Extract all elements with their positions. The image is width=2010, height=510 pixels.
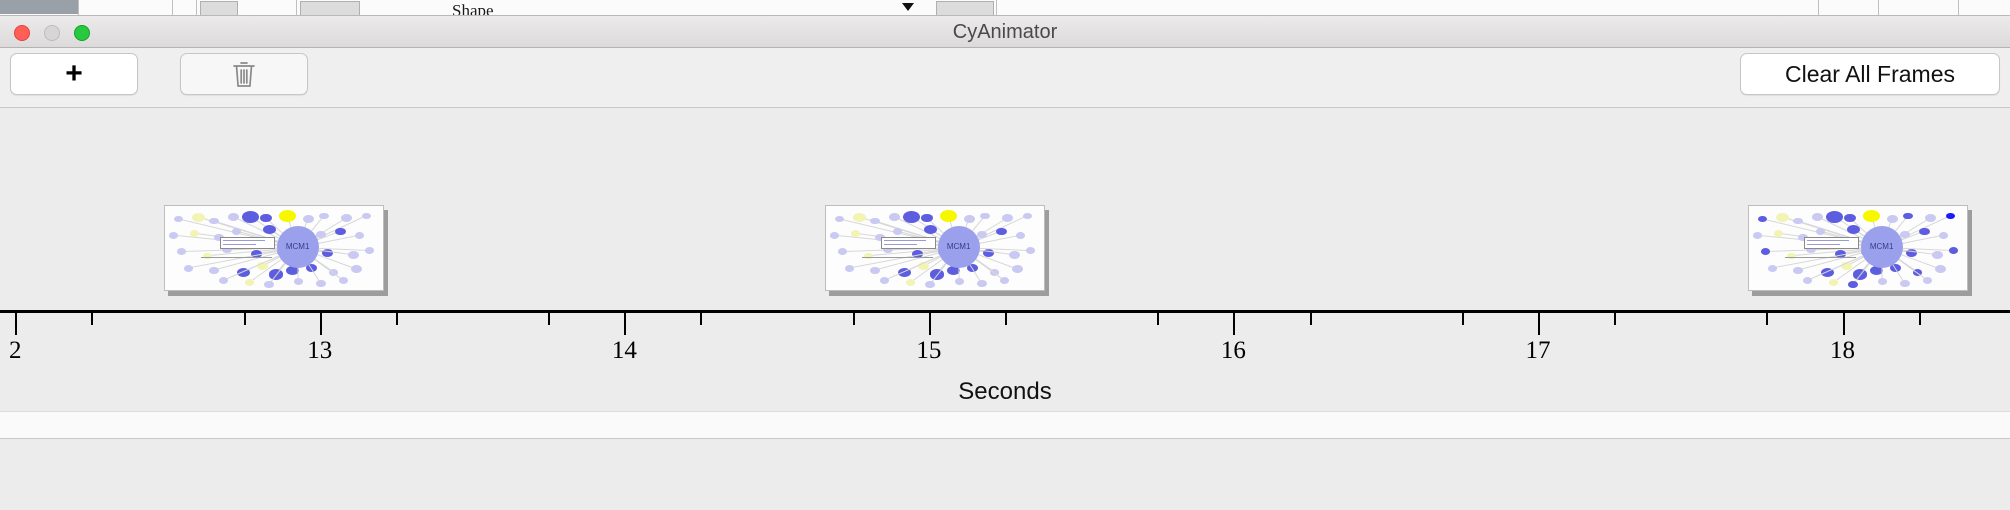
network-node (1863, 210, 1880, 222)
network-node (889, 213, 900, 221)
network-node (228, 213, 239, 221)
bg-field (300, 1, 360, 16)
network-node (1923, 277, 1932, 284)
axis-tick-minor (1919, 313, 1921, 325)
network-thumbnail-image: MCM1 (164, 205, 384, 291)
bg-field (200, 1, 238, 16)
axis-tick-minor (853, 313, 855, 325)
network-node (893, 228, 902, 235)
axis-tick-major (1538, 313, 1540, 335)
network-node (921, 214, 932, 222)
axis-tick-minor (548, 313, 550, 325)
network-node (1829, 279, 1838, 286)
network-node (955, 278, 964, 285)
network-hub-node: MCM1 (277, 226, 319, 268)
network-node (203, 253, 212, 260)
network-node (1903, 213, 1912, 220)
network-node (1023, 213, 1032, 220)
callout-text-line (884, 240, 926, 241)
delete-frame-button[interactable] (180, 53, 308, 95)
network-node (1753, 232, 1762, 239)
callout-text-line (1807, 240, 1849, 241)
network-node (940, 210, 957, 222)
network-node (184, 265, 193, 272)
axis-tick-minor (1310, 313, 1312, 325)
network-node (209, 267, 218, 274)
network-node (880, 277, 889, 284)
frame-thumbnail-2[interactable]: MCM1 (825, 205, 1045, 291)
network-node (964, 215, 975, 223)
network-node (870, 267, 879, 274)
network-node (260, 214, 271, 222)
axis-tick-label: 13 (307, 337, 332, 365)
background-app-label: Shape (452, 1, 494, 16)
timeline-panel[interactable]: MCM1MCM1MCM1 (0, 109, 2010, 411)
network-node (190, 230, 199, 237)
axis-tick-label: 14 (612, 337, 637, 365)
axis-tick-minor (244, 313, 246, 325)
network-hub-node: MCM1 (1861, 226, 1903, 268)
bg-divider (1958, 0, 1959, 16)
bg-field (936, 1, 994, 16)
network-node (279, 210, 296, 222)
axis-tick-minor (1462, 313, 1464, 325)
network-node (925, 281, 934, 288)
network-callout (881, 237, 936, 249)
axis-tick-minor (396, 313, 398, 325)
axis-tick-minor (1614, 313, 1616, 325)
network-caption-line (201, 257, 272, 258)
network-node (1000, 277, 1009, 284)
bg-divider (172, 0, 173, 16)
background-dark-block (0, 0, 78, 14)
bg-divider (1878, 0, 1879, 16)
network-node (1826, 211, 1843, 223)
network-node (348, 251, 359, 259)
callout-text-line (1807, 244, 1839, 245)
network-node (1844, 214, 1855, 222)
network-node (1026, 247, 1035, 254)
frame-thumbnail-3[interactable]: MCM1 (1748, 205, 1968, 291)
network-node (1787, 253, 1796, 260)
axis-tick-major (929, 313, 931, 335)
network-callout (1804, 237, 1859, 249)
timeline-scrollbar-track[interactable] (0, 411, 2010, 439)
network-callout (220, 237, 275, 249)
playback-control-bar: ↻ Animation Speed: (0, 440, 2010, 510)
network-node (1812, 213, 1823, 221)
network-node (1768, 265, 1777, 272)
network-node (845, 265, 854, 272)
network-node (362, 213, 371, 220)
axis-tick-major (624, 313, 626, 335)
network-node (851, 230, 860, 237)
axis-tick-minor (1157, 313, 1159, 325)
clear-all-frames-button[interactable]: Clear All Frames (1740, 53, 2000, 95)
network-node (1016, 232, 1025, 239)
axis-tick-major (1843, 313, 1845, 335)
network-node (1900, 280, 1909, 287)
network-node (864, 253, 873, 260)
axis-tick-label: 16 (1221, 337, 1246, 365)
network-node (1848, 281, 1857, 288)
network-node (242, 211, 259, 223)
network-node (351, 265, 362, 273)
axis-tick-major (1233, 313, 1235, 335)
callout-text-line (223, 240, 265, 241)
network-node (1919, 228, 1930, 236)
bg-divider (196, 0, 197, 16)
network-node (1761, 248, 1770, 255)
frame-thumbnail-1[interactable]: MCM1 (164, 205, 384, 291)
network-node (830, 232, 839, 239)
network-hub-node: MCM1 (938, 226, 980, 268)
network-node (1774, 230, 1783, 237)
axis-tick-label: 18 (1830, 337, 1855, 365)
axis-title: Seconds (0, 378, 2010, 406)
bg-divider (78, 0, 79, 16)
network-node (1949, 247, 1958, 254)
bg-divider (1818, 0, 1819, 16)
title-bar: CyAnimator (0, 16, 2010, 48)
axis-tick-label: 2 (9, 337, 22, 365)
network-node (316, 280, 325, 287)
network-node (319, 213, 328, 220)
bg-divider (296, 0, 297, 16)
network-node (980, 213, 989, 220)
network-node (1887, 215, 1898, 223)
network-node (906, 279, 915, 286)
network-node (294, 278, 303, 285)
network-node (1946, 213, 1955, 220)
callout-text-line (884, 244, 916, 245)
network-node (1009, 251, 1020, 259)
network-node (192, 213, 205, 222)
background-app-strip: Shape (0, 0, 2010, 16)
network-thumbnail-image: MCM1 (1748, 205, 1968, 291)
network-node (1776, 213, 1789, 222)
network-node (1816, 228, 1825, 235)
network-thumbnail-image: MCM1 (825, 205, 1045, 291)
network-node (219, 277, 228, 284)
axis-tick-minor (91, 313, 93, 325)
network-node (1793, 267, 1802, 274)
bg-divider (996, 0, 997, 16)
network-node (835, 216, 844, 223)
network-node (1878, 278, 1887, 285)
callout-text-line (223, 244, 255, 245)
axis-tick-label: 15 (916, 337, 941, 365)
network-node (1932, 251, 1943, 259)
network-node (1935, 265, 1946, 273)
network-node (303, 215, 314, 223)
network-node (1803, 277, 1812, 284)
network-caption-line (862, 257, 933, 258)
network-node (355, 232, 364, 239)
axis-tick-minor (1005, 313, 1007, 325)
network-node (977, 280, 986, 287)
clear-all-frames-label: Clear All Frames (1785, 61, 1955, 88)
axis-tick-minor (700, 313, 702, 325)
network-node (838, 248, 847, 255)
network-node (264, 281, 273, 288)
network-node (1939, 232, 1948, 239)
window-title: CyAnimator (0, 16, 2010, 48)
network-node (232, 228, 241, 235)
network-node (245, 279, 254, 286)
network-caption-line (1785, 257, 1856, 258)
axis-tick-major (15, 313, 17, 335)
network-node (903, 211, 920, 223)
cyanimator-window: Shape CyAnimator + Clear All Frames MCM1… (0, 0, 2010, 510)
axis-tick-label: 17 (1525, 337, 1550, 365)
network-node (1012, 265, 1023, 273)
network-node (169, 232, 178, 239)
axis-tick-major (320, 313, 322, 335)
bg-caret-icon (902, 3, 914, 11)
trash-icon (231, 59, 257, 89)
network-node (853, 213, 866, 222)
network-node (177, 248, 186, 255)
network-node (1758, 216, 1767, 223)
axis-tick-minor (1766, 313, 1768, 325)
network-node (996, 228, 1007, 236)
network-node (339, 277, 348, 284)
network-node (174, 216, 183, 223)
network-node (365, 247, 374, 254)
network-node (335, 228, 346, 236)
add-frame-button[interactable]: + (10, 53, 138, 95)
plus-icon: + (65, 59, 83, 89)
